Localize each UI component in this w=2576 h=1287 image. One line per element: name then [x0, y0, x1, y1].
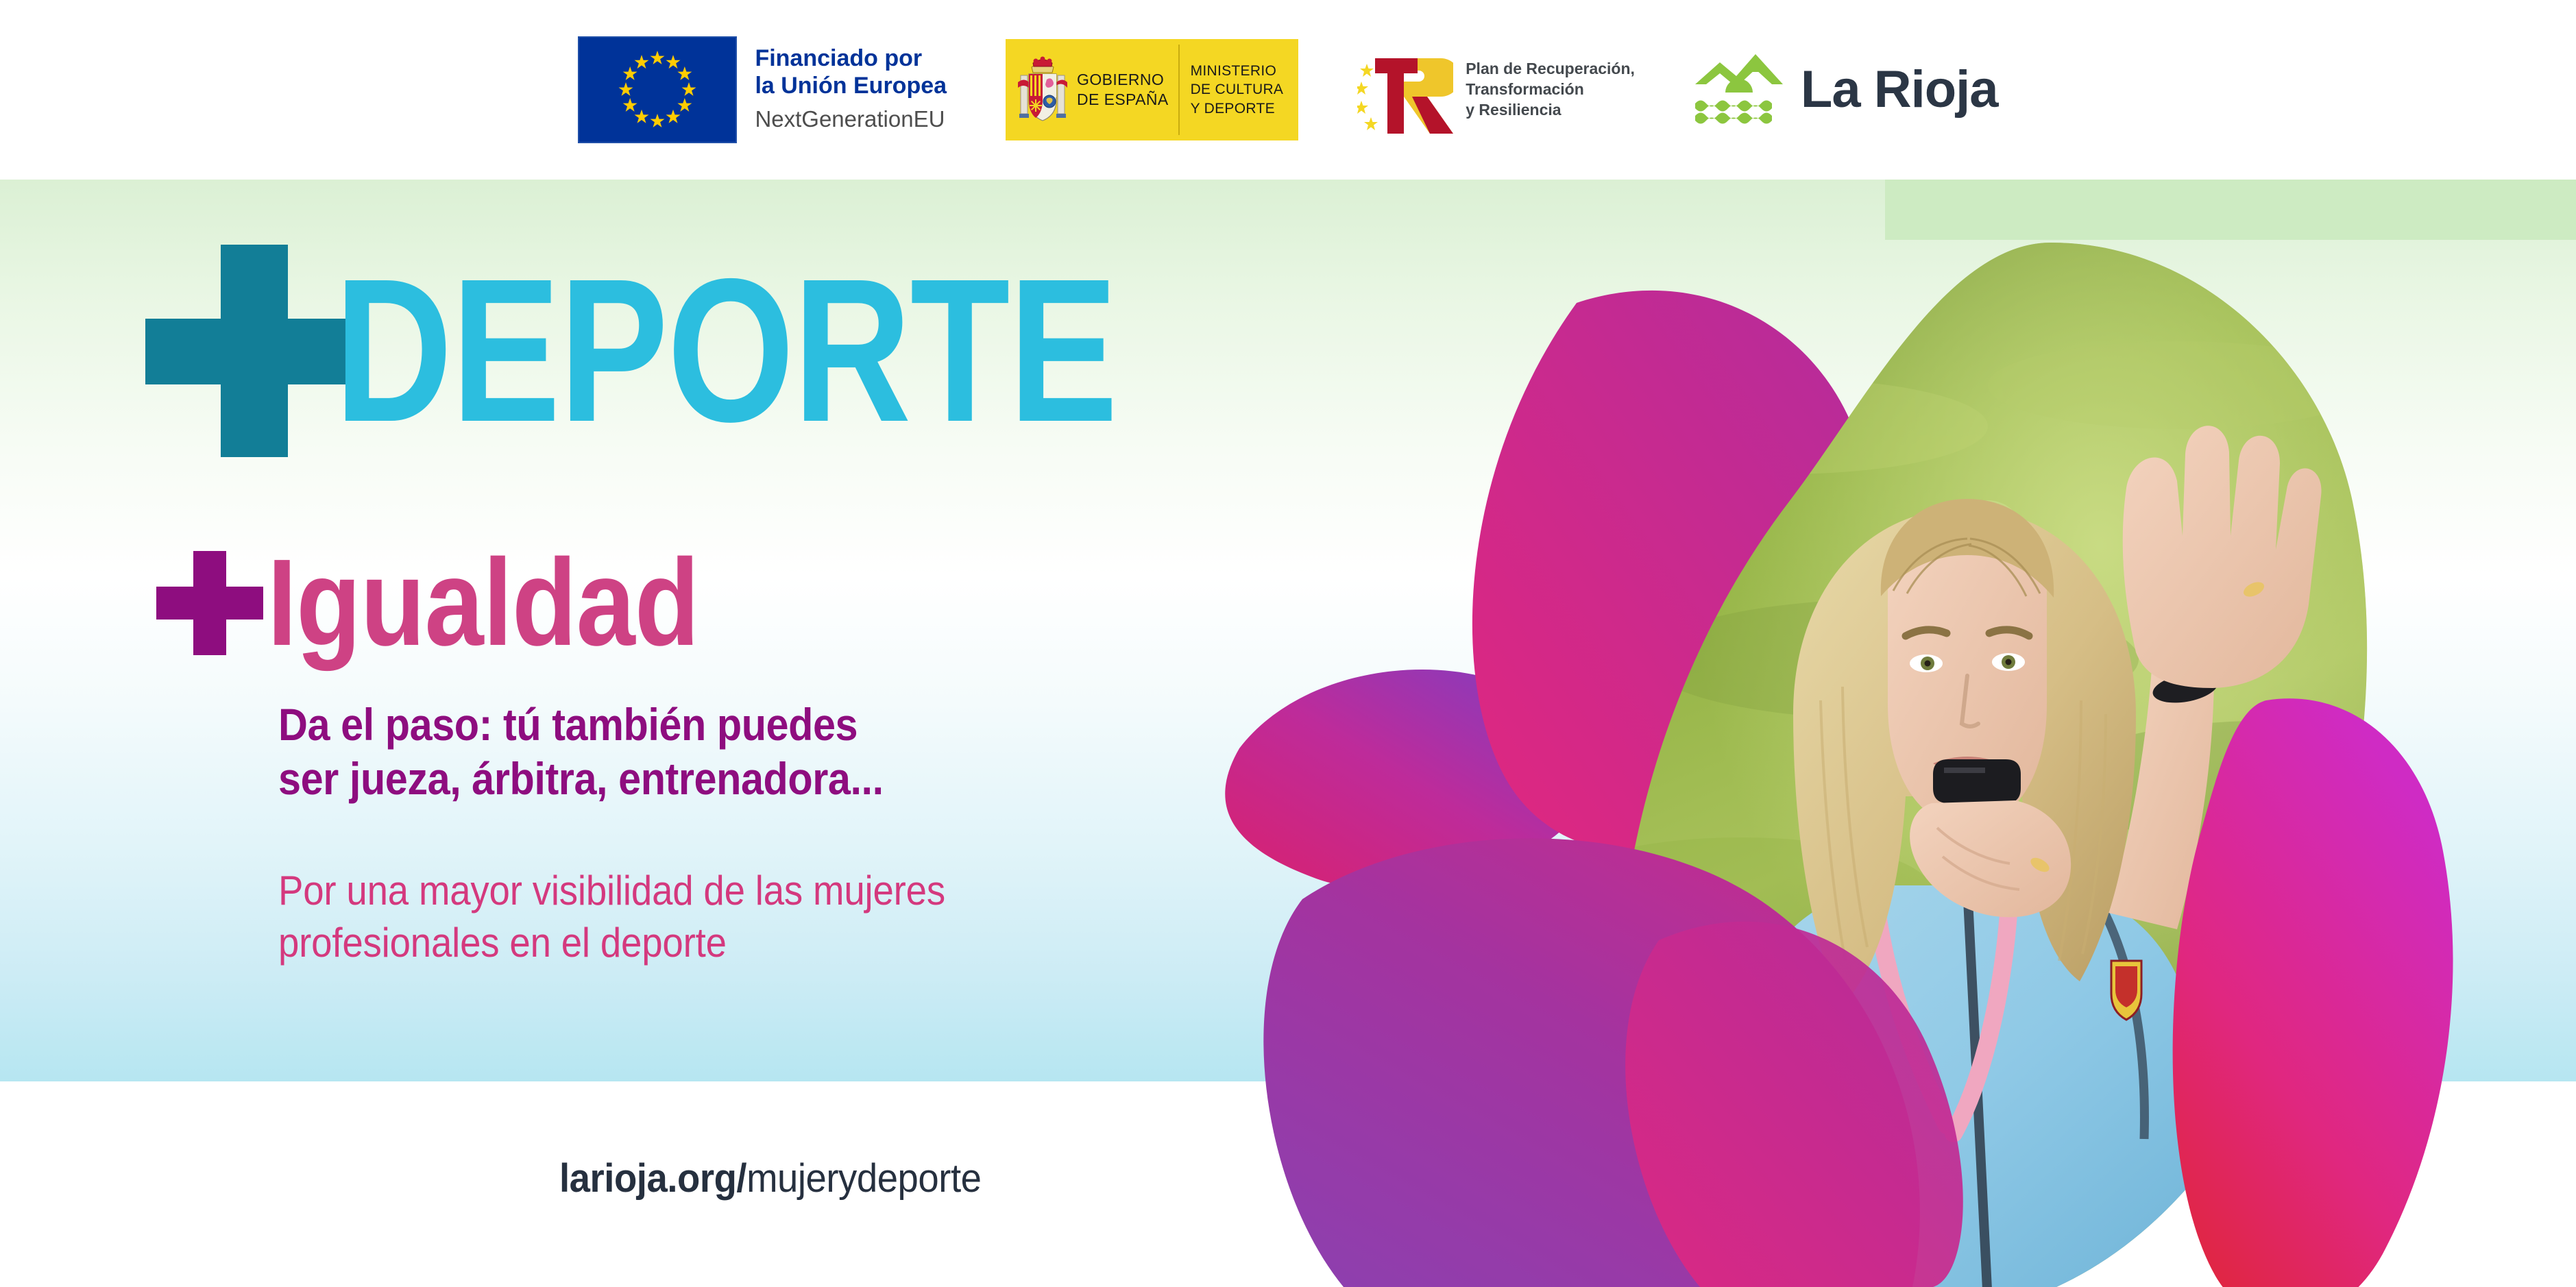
prtr-monogram-icon [1357, 46, 1453, 134]
claim-line-1: Da el paso: tú también puedes [278, 698, 884, 752]
headline-word-igualdad: Igualdad [267, 548, 699, 659]
gobierno-line2: DE ESPAÑA [1077, 90, 1169, 110]
eu-flag-icon [578, 36, 737, 143]
headline-equality: Igualdad [156, 535, 769, 672]
ministerio-line3: Y DEPORTE [1191, 99, 1284, 118]
eu-nextgeneration-label: NextGenerationEU [755, 103, 947, 135]
eu-funded-line2: la Unión Europea [755, 72, 947, 99]
gobierno-label: GOBIERNO DE ESPAÑA [1077, 70, 1169, 110]
campaign-url[interactable]: larioja.org/mujerydeporte [559, 1155, 981, 1201]
plus-sign-equality-icon [156, 551, 263, 655]
blob-right-magenta [2173, 698, 2453, 1287]
plus-sign-sport-icon [144, 245, 363, 457]
prtr-line2: Transformación [1466, 79, 1635, 100]
headline-word-deporte: DEPORTE [335, 267, 1117, 434]
institutional-logo-bar: Financiado por la Unión Europea NextGene… [0, 0, 2576, 180]
campaign-subclaim: Por una mayor visibilidad de las mujeres… [278, 865, 945, 969]
eu-funded-line1: Financiado por [755, 45, 947, 72]
logo-european-union: Financiado por la Unión Europea NextGene… [578, 36, 947, 143]
prtr-text: Plan de Recuperación, Transformación y R… [1466, 59, 1635, 121]
logo-plan-recuperacion: Plan de Recuperación, Transformación y R… [1357, 46, 1635, 134]
eu-logo-text: Financiado por la Unión Europea NextGene… [755, 45, 947, 134]
prtr-line1: Plan de Recuperación, [1466, 59, 1635, 79]
plus-horizontal-bar [156, 587, 263, 620]
campaign-banner: Financiado por la Unión Europea NextGene… [0, 0, 2576, 1287]
logo-la-rioja: La Rioja [1694, 51, 1998, 128]
campaign-claim: Da el paso: tú también puedes ser jueza,… [278, 698, 884, 805]
ministerio-line2: DE CULTURA [1191, 80, 1284, 99]
logo-gobierno-de-espana: GOBIERNO DE ESPAÑA MINISTERIO DE CULTURA… [1006, 39, 1298, 140]
decorative-artwork [1220, 180, 2576, 1287]
subclaim-line-2: profesionales en el deporte [278, 917, 945, 969]
headline-sport: DEPORTE [144, 241, 1313, 461]
spain-coat-of-arms-icon [1018, 52, 1067, 127]
subclaim-line-1: Por una mayor visibilidad de las mujeres [278, 865, 945, 917]
la-rioja-mountain-sun-waves-icon [1694, 51, 1784, 128]
ministerio-block: MINISTERIO DE CULTURA Y DEPORTE [1180, 39, 1299, 140]
url-domain: larioja.org/ [559, 1156, 746, 1201]
ministerio-line1: MINISTERIO [1191, 62, 1284, 80]
la-rioja-wordmark: La Rioja [1801, 64, 1998, 116]
plus-horizontal-bar [145, 319, 363, 384]
eu-stars-icon [579, 38, 736, 142]
gobierno-block: GOBIERNO DE ESPAÑA [1006, 39, 1178, 140]
claim-line-2: ser jueza, árbitra, entrenadora... [278, 752, 884, 806]
gobierno-line1: GOBIERNO [1077, 70, 1169, 90]
url-path: mujerydeporte [746, 1156, 981, 1201]
prtr-line3: y Resiliencia [1466, 100, 1635, 121]
blobs-and-photo [1220, 180, 2576, 1287]
ministerio-label: MINISTERIO DE CULTURA Y DEPORTE [1191, 62, 1284, 118]
